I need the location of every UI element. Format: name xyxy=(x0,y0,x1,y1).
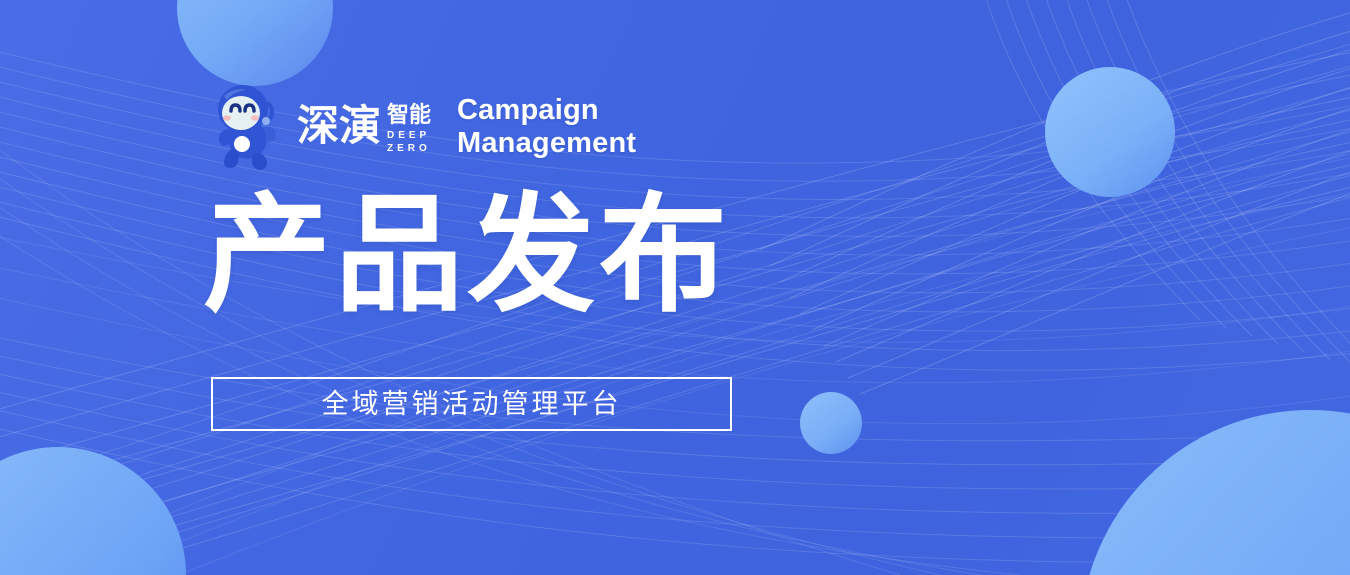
logo-latin-line1: DEEP xyxy=(387,130,430,141)
brand-lockup: 深演 智能 DEEP ZERO Campaign Management xyxy=(207,82,636,172)
subtitle-text: 全域营销活动管理平台 xyxy=(322,391,622,418)
banner-content: 深演 智能 DEEP ZERO Campaign Management 产品发布… xyxy=(0,0,1350,575)
subtitle-box: 全域营销活动管理平台 xyxy=(211,377,732,431)
robot-mascot-icon xyxy=(207,83,287,171)
page-title: 产品发布 xyxy=(203,192,731,320)
logo-wordmark-cn: 深演 智能 DEEP ZERO xyxy=(297,96,447,158)
logo-cn-sub: 智能 xyxy=(387,102,431,128)
product-name: Campaign Management xyxy=(457,94,636,160)
product-launch-banner: 深演 智能 DEEP ZERO Campaign Management 产品发布… xyxy=(0,0,1350,575)
logo-latin-line2: ZERO xyxy=(387,143,431,154)
logo-cn-main: 深演 xyxy=(297,101,381,150)
